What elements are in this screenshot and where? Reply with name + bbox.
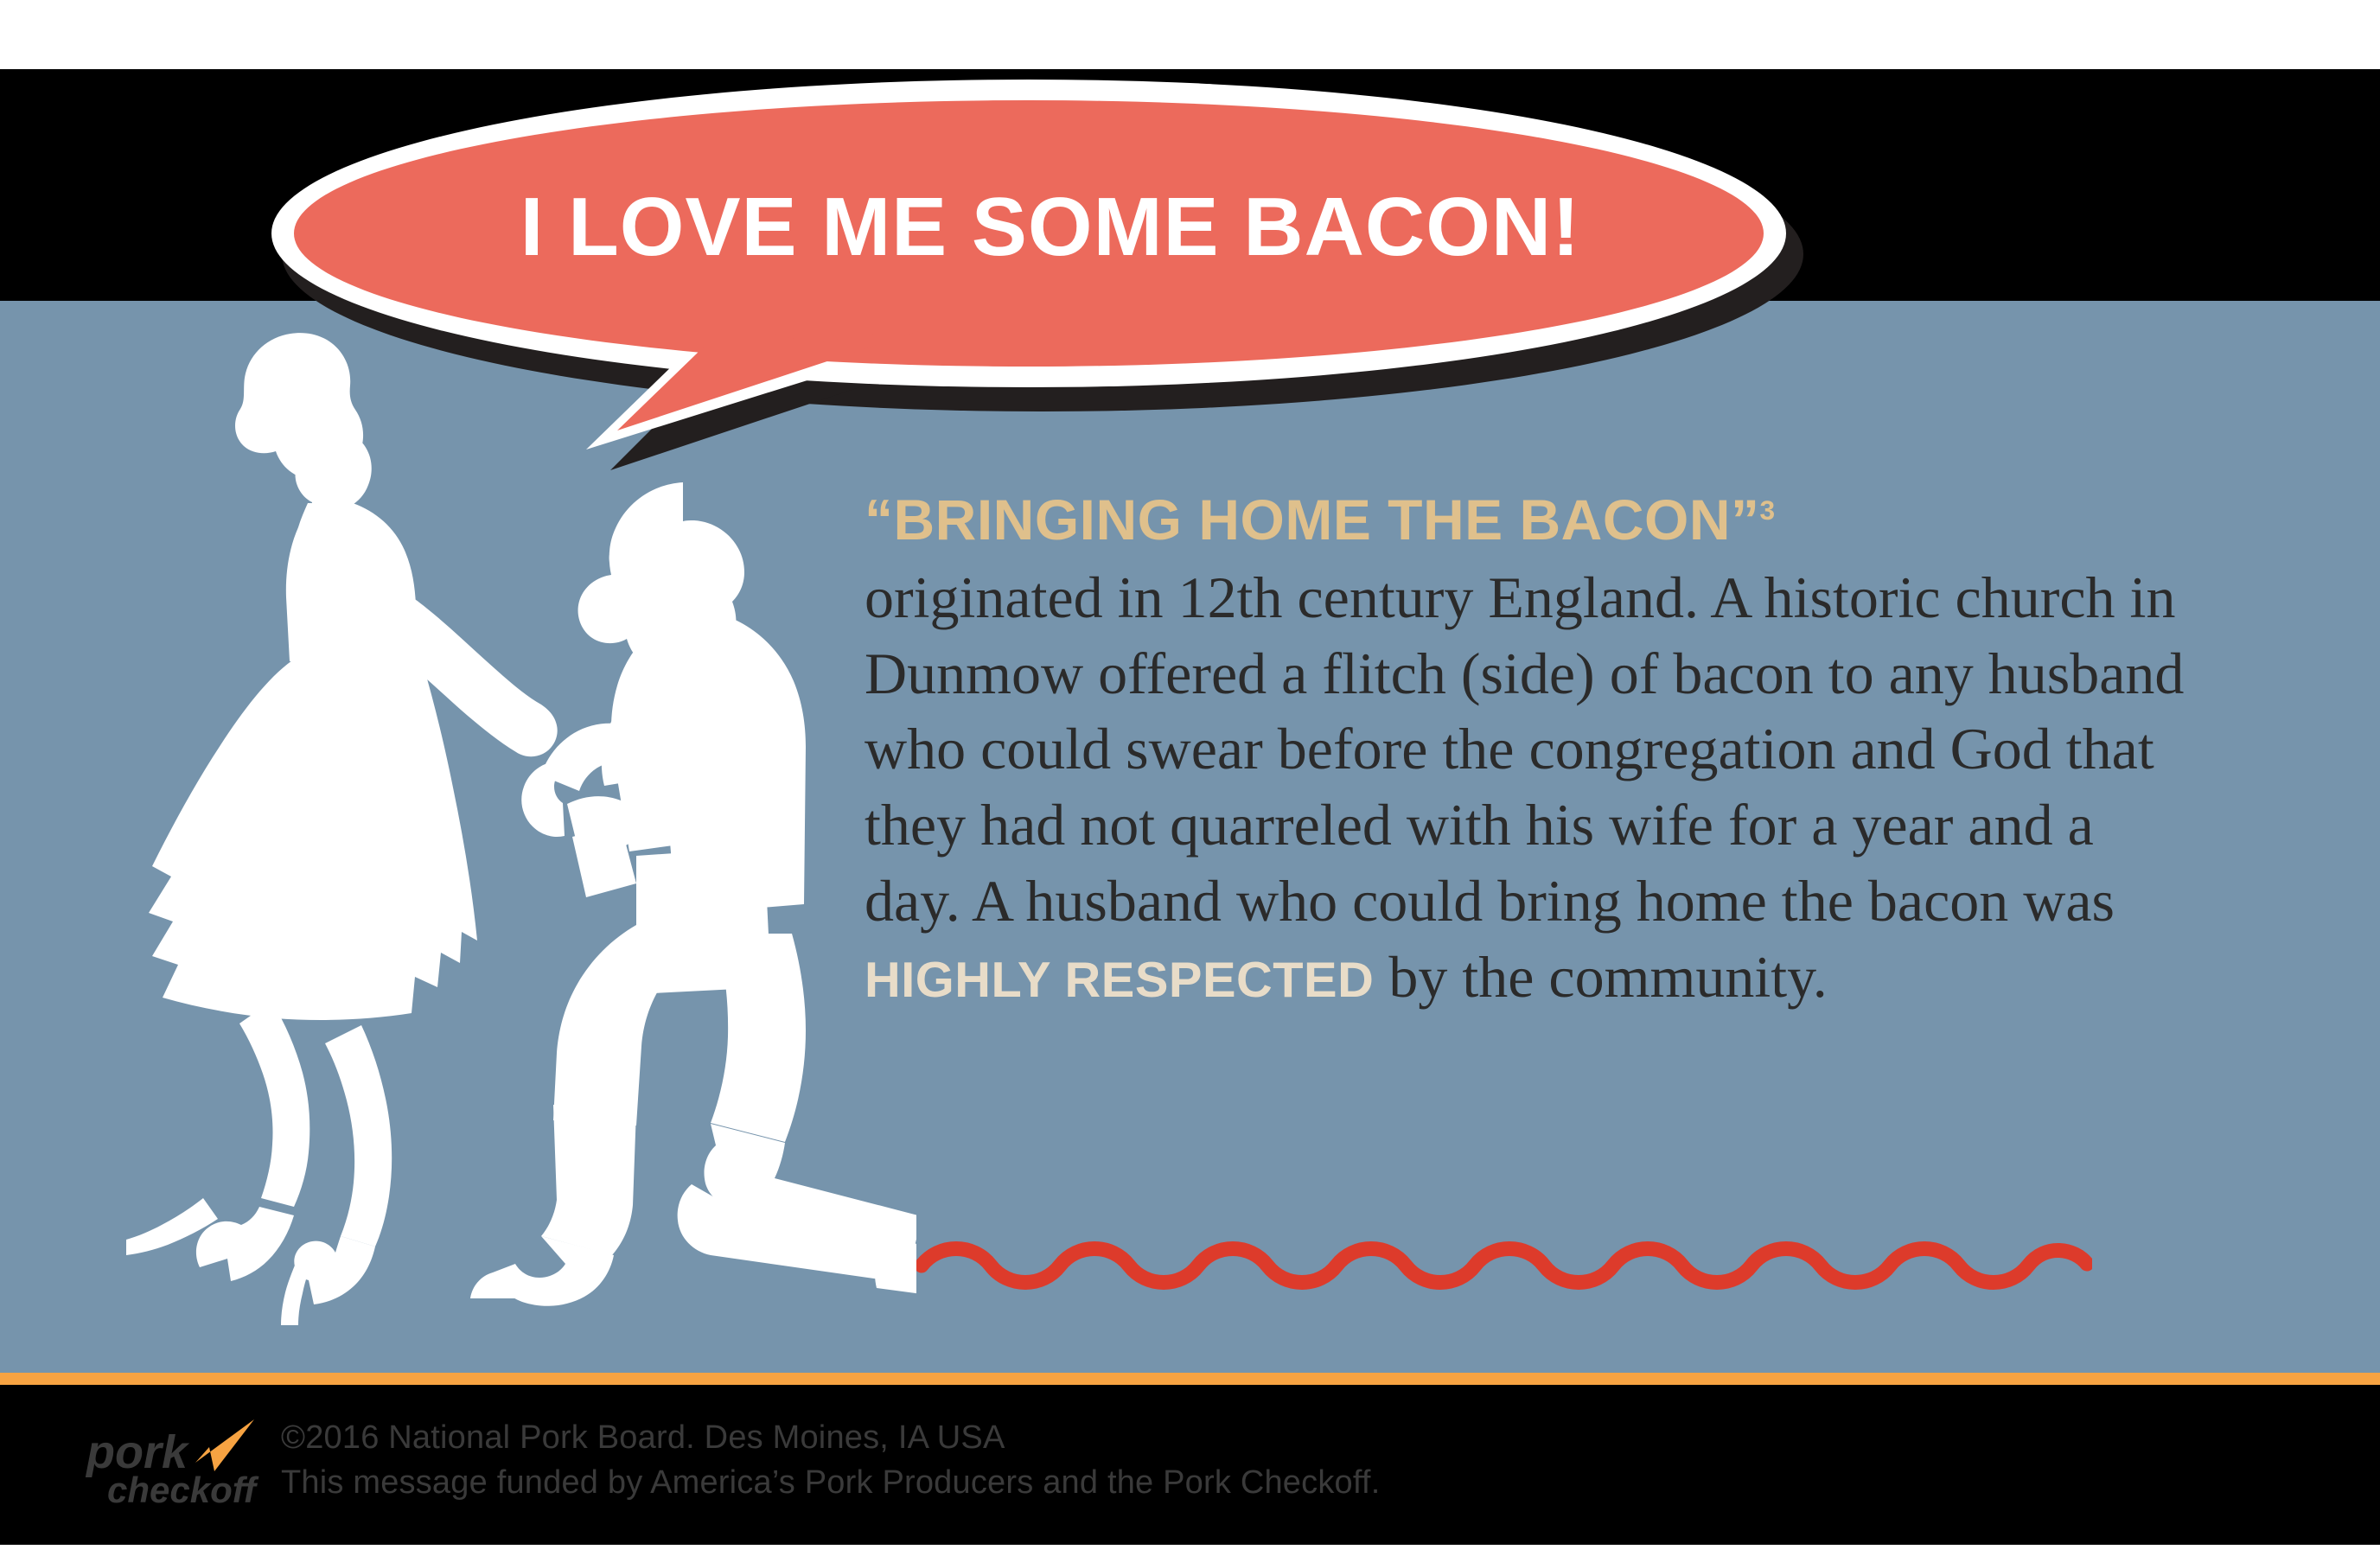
body-copy-part-2: by the community.	[1374, 944, 1827, 1010]
pork-checkoff-logo: pork checkoff	[85, 1418, 279, 1511]
headline-footnote: 3	[1760, 494, 1776, 526]
headline-text: “BRINGING HOME THE BACON”	[865, 488, 1760, 552]
red-wavy-divider	[916, 1238, 2092, 1307]
infographic-poster: I LOVE ME SOME BACON! “BRINGING HOME THE…	[0, 0, 2380, 1556]
headline: “BRINGING HOME THE BACON”3	[865, 491, 2200, 548]
footer: pork checkoff ©2016 National Pork Board.…	[0, 1385, 2380, 1545]
speech-bubble: I LOVE ME SOME BACON!	[268, 76, 1833, 448]
body-copy: originated in 12th century England. A hi…	[865, 560, 2200, 1015]
footer-text-block: ©2016 National Pork Board. Des Moines, I…	[281, 1418, 1751, 1508]
text-column: “BRINGING HOME THE BACON”3 originated in…	[865, 491, 2200, 1015]
body-copy-highlight: HIGHLY RESPECTED	[865, 953, 1374, 1008]
body-copy-part-1: originated in 12th century England. A hi…	[865, 564, 2184, 934]
footer-funding: This message funded by America’s Pork Pr…	[281, 1463, 1751, 1502]
logo-word-checkoff: checkoff	[107, 1470, 259, 1510]
couple-proposal-silhouette	[86, 320, 916, 1383]
footer-copyright: ©2016 National Pork Board. Des Moines, I…	[281, 1418, 1751, 1457]
